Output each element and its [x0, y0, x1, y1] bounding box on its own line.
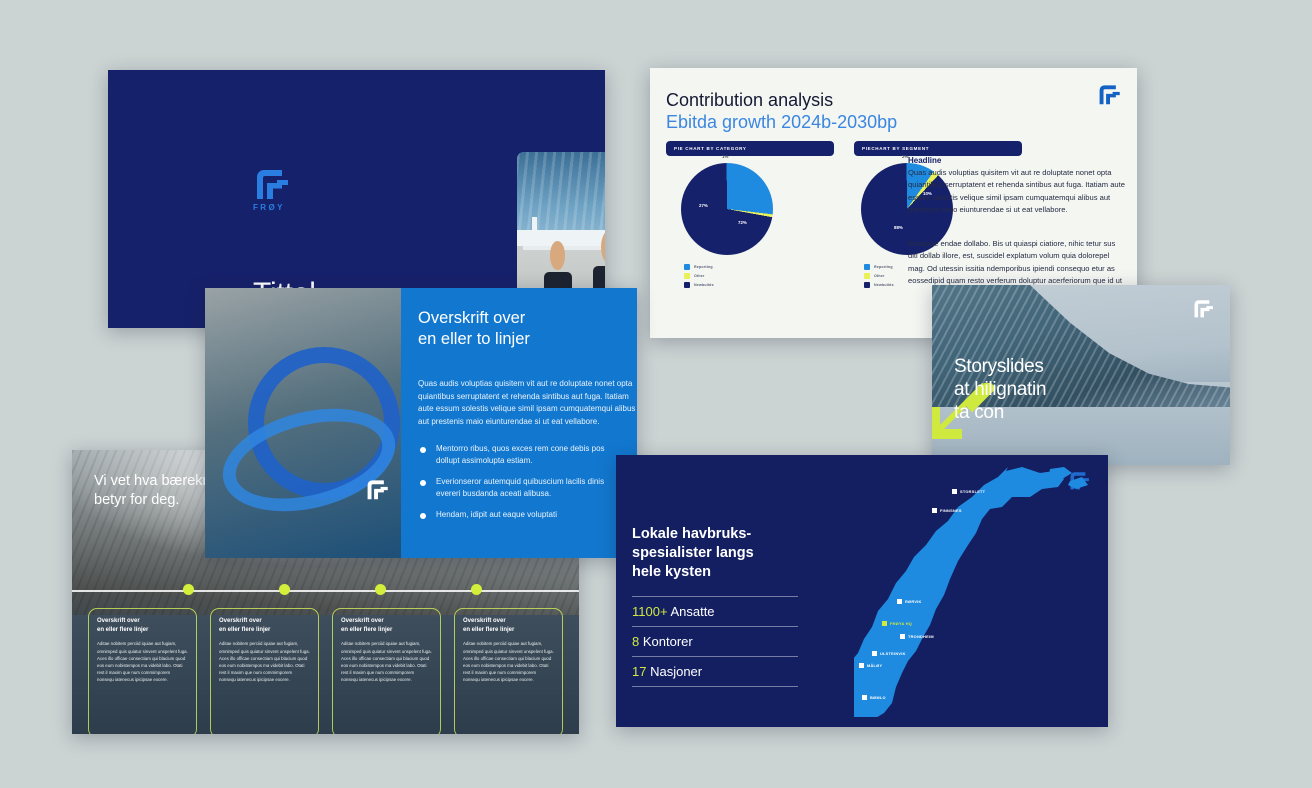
pie-slice-label: 1%	[722, 154, 728, 159]
pin-marker-icon	[900, 634, 905, 639]
stats-list: 1100+ Ansatte 8 Kontorer 17 Nasjoner	[632, 596, 798, 687]
headline: Headline	[908, 156, 1126, 165]
card-title-line1: Overskrift over	[219, 618, 262, 624]
stat-row: 8 Kontorer	[632, 626, 798, 656]
legend-label: Other	[874, 274, 885, 278]
froy-logo	[1097, 84, 1123, 105]
map-pin-ulsteinvik[interactable]: ULSTEINVIK	[872, 651, 906, 656]
analysis-title: Contribution analysis	[666, 90, 833, 111]
bullet-item: Mentorro ribus, quos exces rem cone debi…	[418, 443, 626, 467]
card-body: Aditae nobitem perciid iquiae aut fugiam…	[463, 640, 554, 683]
card-title-line1: Overskrift over	[97, 618, 140, 624]
pin-marker-icon	[932, 508, 937, 513]
timeline-dot[interactable]	[183, 584, 194, 595]
pie-slice-label: 72%	[738, 220, 747, 225]
legend-label: Reporting	[694, 265, 713, 269]
map-pin-finnsnes[interactable]: FINNSNES	[932, 508, 962, 513]
card-title-line2: en eller flere linjer	[463, 627, 514, 633]
timeline-card[interactable]: Overskrift over en eller flere linjer Ad…	[454, 608, 563, 734]
map-pin-froya-hq[interactable]: FRØYA HQ	[882, 621, 912, 626]
card-title-line1: Overskrift over	[463, 618, 506, 624]
froy-logo	[1192, 299, 1216, 318]
headline-body: Beaquae endae dollabo. Bis ut quiaspi ci…	[908, 238, 1126, 287]
slide-storyslides[interactable]: Storyslides at hilignatin ta con	[932, 285, 1230, 465]
map-pin-bomlo[interactable]: BØMLO	[862, 695, 886, 700]
card-title-line2: en eller flere linjer	[341, 627, 392, 633]
pin-marker-icon	[897, 599, 902, 604]
sustainability-heading-line2: betyr for deg.	[94, 492, 179, 508]
pie-graphic: 1% 27% 72%	[681, 163, 773, 255]
timeline-cards: Overskrift over en eller flere linjer Ad…	[72, 608, 579, 734]
legend-swatch	[864, 264, 870, 270]
chart-tabs: PIE CHART BY CATEGORY PIECHART BY SEGMEN…	[666, 141, 1022, 156]
legend-swatch	[684, 282, 690, 288]
stat-row: 17 Nasjoner	[632, 656, 798, 687]
analysis-copy: Headline Quas audis voluptias quisitem v…	[908, 156, 1126, 298]
pin-label: RØRVIK	[905, 599, 922, 604]
pin-marker-icon	[859, 663, 864, 668]
pin-marker-icon	[952, 489, 957, 494]
card-title: Overskrift over en eller flere linjer	[341, 617, 432, 634]
map-pin-trondheim[interactable]: TRONDHEIM	[900, 634, 934, 639]
timeline-dot[interactable]	[375, 584, 386, 595]
pin-marker-icon	[882, 621, 887, 626]
timeline-card[interactable]: Overskrift over en eller flere linjer Ad…	[332, 608, 441, 734]
map-pin-maloy[interactable]: MÅLØY	[859, 663, 882, 668]
card-title: Overskrift over en eller flere linjer	[97, 617, 188, 634]
map-heading-line2: spesialister langs	[632, 545, 754, 561]
card-title: Overskrift over en eller flere linjer	[219, 617, 310, 634]
pin-label: FRØYA HQ	[890, 621, 912, 626]
norway-silhouette-icon	[854, 465, 1104, 717]
rope-photo	[205, 288, 401, 558]
legend-label: Other	[694, 274, 705, 278]
pin-label: BØMLO	[870, 695, 886, 700]
legend-label: Newbuilds	[694, 283, 714, 287]
pie-legend: ReportingOtherNewbuilds	[666, 264, 788, 288]
legend-item: Other	[684, 273, 788, 279]
legend-item: Newbuilds	[684, 282, 788, 288]
pie-slice-label: 88%	[894, 225, 903, 230]
card-title-line2: en eller flere linjer	[97, 627, 148, 633]
story-heading-line2: at hilignatin	[954, 379, 1046, 400]
legend-swatch	[684, 273, 690, 279]
headline-body: Quas audis voluptias quisitem vit aut re…	[908, 167, 1126, 216]
legend-swatch	[864, 273, 870, 279]
stat-value: 1100+	[632, 604, 668, 619]
pie-slice-label: 27%	[699, 203, 708, 208]
pie-chart-by-category[interactable]: 1% 27% 72% ReportingOtherNewbuilds	[666, 163, 788, 291]
card-body: Aditae nobitem perciid iquiae aut fugiam…	[341, 640, 432, 683]
pin-label: ULSTEINVIK	[880, 651, 906, 656]
timeline-dot[interactable]	[279, 584, 290, 595]
overskrift-heading-line2: en eller to linjer	[418, 330, 530, 348]
overskrift-heading: Overskrift over en eller to linjer	[418, 308, 637, 350]
tab-piechart-by-segment[interactable]: PIECHART BY SEGMENT	[854, 141, 1022, 156]
stat-label: Ansatte	[670, 604, 714, 619]
froy-logo: FRØY	[253, 168, 293, 212]
bullet-item: Hendam, idipit aut eaque voluptati	[418, 509, 626, 521]
stat-label: Kontorer	[643, 634, 693, 649]
story-heading: Storyslides at hilignatin ta con	[954, 355, 1046, 425]
stat-label: Nasjoner	[650, 664, 702, 679]
story-heading-line3: ta con	[954, 402, 1004, 423]
pin-marker-icon	[862, 695, 867, 700]
card-title-line1: Overskrift over	[341, 618, 384, 624]
overskrift-heading-line1: Overskrift over	[418, 309, 525, 327]
map-heading-line1: Lokale havbruks-	[632, 526, 751, 542]
card-title-line2: en eller flere linjer	[219, 627, 270, 633]
froy-wordmark: FRØY	[253, 203, 293, 212]
slide-deck-overview: FRØY Tittel Presentasjon Jens Jensen XX/…	[0, 0, 1312, 788]
legend-label: Newbuilds	[874, 283, 894, 287]
legend-swatch	[684, 264, 690, 270]
froy-logo	[365, 479, 391, 500]
pin-label: STORSLETT	[960, 489, 985, 494]
pin-label: MÅLØY	[867, 663, 882, 668]
pin-label: TRONDHEIM	[908, 634, 934, 639]
tab-pie-chart-by-category[interactable]: PIE CHART BY CATEGORY	[666, 141, 834, 156]
norway-map: STORSLETT FINNSNES RØRVIK FRØYA HQ TROND…	[854, 465, 1104, 717]
pin-marker-icon	[872, 651, 877, 656]
timeline-dot[interactable]	[471, 584, 482, 595]
map-pin-storslett[interactable]: STORSLETT	[952, 489, 985, 494]
card-title: Overskrift over en eller flere linjer	[463, 617, 554, 634]
legend-swatch	[864, 282, 870, 288]
map-pin-rorvik[interactable]: RØRVIK	[897, 599, 922, 604]
timeline-card[interactable]: Overskrift over en eller flere linjer Ad…	[88, 608, 197, 734]
pin-label: FINNSNES	[940, 508, 962, 513]
slide-overskrift[interactable]: Overskrift over en eller to linjer Quas …	[205, 288, 637, 558]
story-heading-line1: Storyslides	[954, 356, 1044, 377]
map-heading-line3: hele kysten	[632, 564, 711, 580]
legend-item: Reporting	[684, 264, 788, 270]
bullet-item: Everionseror autemquid quibuscium lacili…	[418, 476, 626, 500]
overskrift-paragraph: Quas audis voluptias quisitem vit aut re…	[418, 378, 636, 429]
card-body: Aditae nobitem perciid iquiae aut fugiam…	[219, 640, 310, 683]
overskrift-bullets: Mentorro ribus, quos exces rem cone debi…	[418, 443, 626, 521]
stat-value: 17	[632, 664, 646, 679]
card-body: Aditae nobitem perciid iquiae aut fugiam…	[97, 640, 188, 683]
map-copy: Lokale havbruks- spesialister langs hele…	[632, 525, 798, 687]
analysis-subtitle: Ebitda growth 2024b-2030bp	[666, 112, 897, 133]
headline: Headline	[908, 227, 1126, 236]
slide-locations-map[interactable]: Lokale havbruks- spesialister langs hele…	[616, 455, 1108, 727]
timeline-markers	[72, 584, 579, 598]
stat-row: 1100+ Ansatte	[632, 596, 798, 626]
map-heading: Lokale havbruks- spesialister langs hele…	[632, 525, 798, 582]
photo-sea	[517, 152, 605, 242]
timeline-card[interactable]: Overskrift over en eller flere linjer Ad…	[210, 608, 319, 734]
overskrift-body: Overskrift over en eller to linjer Quas …	[418, 288, 637, 558]
legend-label: Reporting	[874, 265, 893, 269]
stat-value: 8	[632, 634, 639, 649]
